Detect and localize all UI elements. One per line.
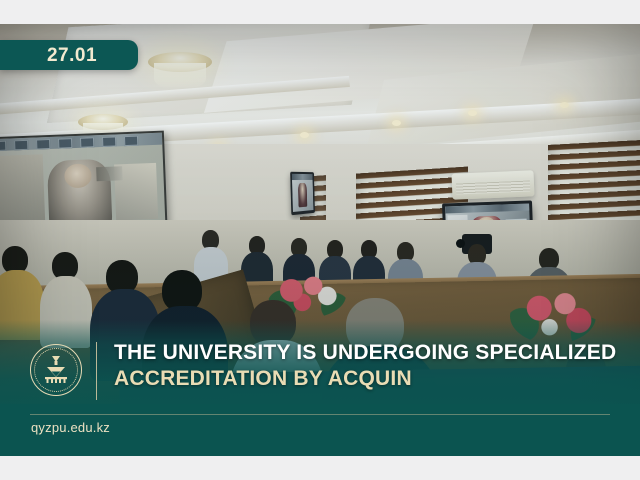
video-call-thumbnail <box>0 141 6 152</box>
video-call-logo <box>96 167 123 182</box>
date-badge-label: 27.01 <box>47 46 97 65</box>
headline-divider <box>96 342 97 400</box>
website-url: qyzpu.edu.kz <box>31 420 110 435</box>
ceiling-spotlight <box>300 132 309 138</box>
date-badge: 27.01 <box>0 40 138 70</box>
footer-rule <box>30 414 610 415</box>
video-call-thumbnail-strip <box>292 174 313 180</box>
headline-line-2: ACCREDITATION BY ACQUIN <box>114 366 634 392</box>
chandelier-large-icon <box>148 52 212 72</box>
seal-emblem-glyph <box>41 354 71 386</box>
side-angled-tv <box>290 172 315 216</box>
video-call-thumbnail <box>124 136 138 147</box>
video-call-thumbnail <box>14 140 28 151</box>
video-call-thumbnail-strip <box>445 204 529 214</box>
video-call-thumbnail <box>36 139 50 150</box>
tv-screen <box>292 174 314 212</box>
brand-block: THE UNIVERSITY IS UNDERGOING SPECIALIZED… <box>0 336 640 456</box>
ceiling-spotlight <box>392 120 401 126</box>
video-call-thumbnail <box>58 138 72 149</box>
university-seal-icon <box>30 344 82 396</box>
air-conditioner <box>451 170 534 199</box>
headline: THE UNIVERSITY IS UNDERGOING SPECIALIZED… <box>114 340 634 392</box>
headline-line-1: THE UNIVERSITY IS UNDERGOING SPECIALIZED <box>114 340 634 366</box>
chandelier-small-icon <box>78 114 128 130</box>
video-call-thumbnail <box>80 137 94 148</box>
ceiling-spotlight <box>560 102 569 108</box>
letterbox-bottom <box>0 456 640 480</box>
video-call-participant <box>298 183 308 208</box>
banner-canvas: 27.01 THE UNIVERSITY IS UNDERGOING SPECI… <box>0 0 640 480</box>
ceiling-spotlight <box>468 110 477 116</box>
letterbox-top <box>0 0 640 24</box>
video-call-thumbnail <box>102 136 116 147</box>
